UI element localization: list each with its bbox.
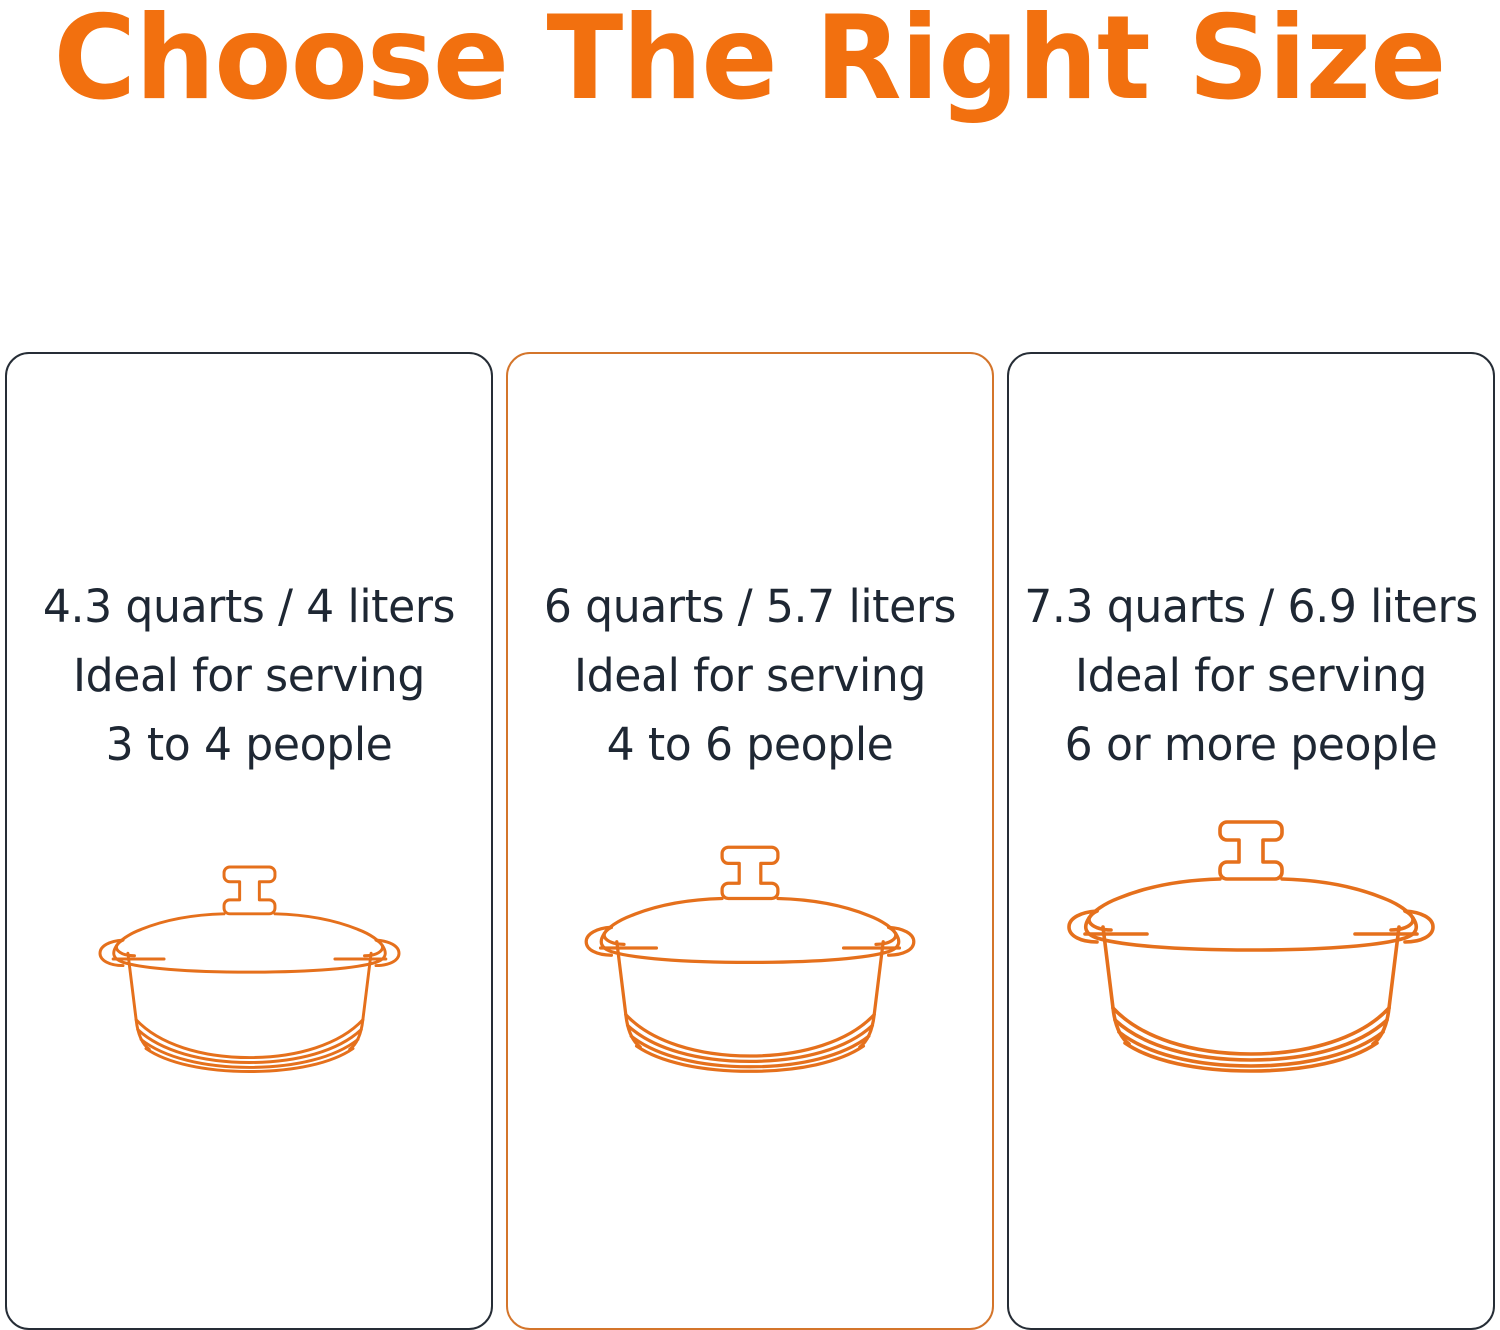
size-card-large[interactable]: 7.3 quarts / 6.9 liters Ideal for servin… bbox=[1007, 352, 1495, 1330]
serving-count-label: 6 or more people bbox=[1014, 710, 1488, 779]
page-title-container: Choose The Right Size bbox=[0, 0, 1500, 130]
page-title: Choose The Right Size bbox=[54, 0, 1446, 118]
dutch-oven-illustration-medium bbox=[508, 794, 992, 1074]
serving-label: Ideal for serving bbox=[12, 641, 486, 710]
capacity-label: 4.3 quarts / 4 liters bbox=[12, 572, 486, 641]
dutch-oven-icon bbox=[1041, 794, 1461, 1074]
size-card-medium-text: 6 quarts / 5.7 liters Ideal for serving … bbox=[508, 572, 992, 779]
size-card-small-text: 4.3 quarts / 4 liters Ideal for serving … bbox=[7, 572, 491, 779]
serving-count-label: 3 to 4 people bbox=[12, 710, 486, 779]
capacity-label: 7.3 quarts / 6.9 liters bbox=[1014, 572, 1488, 641]
size-card-row: 4.3 quarts / 4 liters Ideal for serving … bbox=[5, 352, 1495, 1330]
serving-label: Ideal for serving bbox=[1014, 641, 1488, 710]
size-card-large-text: 7.3 quarts / 6.9 liters Ideal for servin… bbox=[1009, 572, 1493, 779]
serving-count-label: 4 to 6 people bbox=[513, 710, 987, 779]
serving-label: Ideal for serving bbox=[513, 641, 987, 710]
dutch-oven-illustration-small bbox=[7, 794, 491, 1074]
dutch-oven-icon bbox=[77, 844, 422, 1074]
size-card-medium[interactable]: 6 quarts / 5.7 liters Ideal for serving … bbox=[506, 352, 994, 1330]
size-comparison-page: Choose The Right Size 4.3 quarts / 4 lit… bbox=[0, 0, 1500, 1330]
size-card-small[interactable]: 4.3 quarts / 4 liters Ideal for serving … bbox=[5, 352, 493, 1330]
dutch-oven-illustration-large bbox=[1009, 794, 1493, 1074]
dutch-oven-icon bbox=[561, 822, 939, 1074]
capacity-label: 6 quarts / 5.7 liters bbox=[513, 572, 987, 641]
